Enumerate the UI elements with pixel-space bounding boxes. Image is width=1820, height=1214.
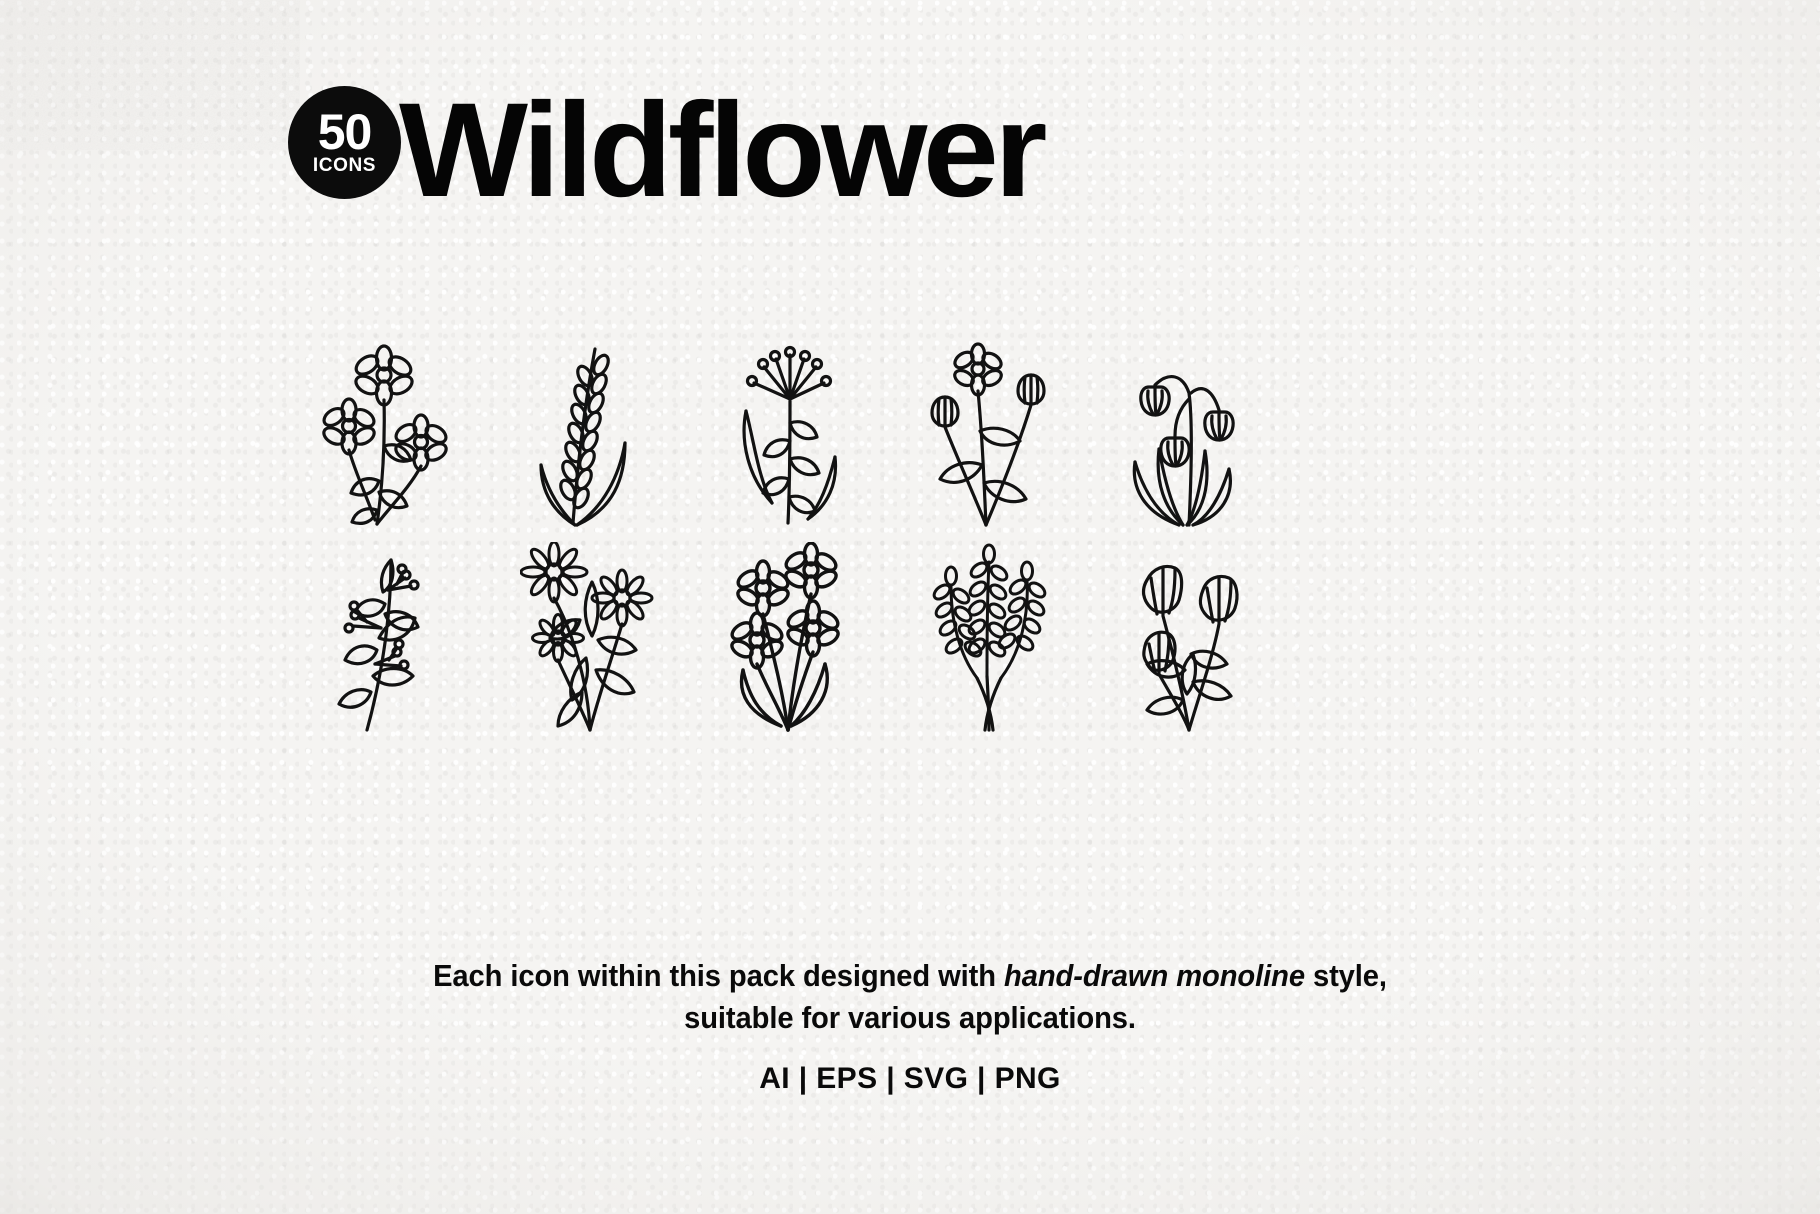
badge-count: 50 <box>318 111 372 154</box>
page-title: Wildflower <box>399 84 1043 218</box>
blade-leaf-left-b <box>541 465 575 525</box>
berry-sprig-left <box>345 602 381 632</box>
icon-tulip-bouquet <box>1090 527 1290 732</box>
tagline: Each icon within this pack designed with… <box>55 955 1766 1039</box>
leaf-r2 <box>790 458 819 475</box>
stalk-center <box>1175 399 1189 436</box>
leaf-r <box>980 428 1020 445</box>
stem-bud-left <box>945 427 986 525</box>
leaf-left-3 <box>339 690 371 708</box>
leaf-left-2 <box>1147 697 1183 714</box>
poster-footer: Each icon within this pack designed with… <box>0 955 1820 1096</box>
stem-2 <box>763 614 788 730</box>
blade-left <box>742 670 781 726</box>
icon-count-badge: 50 ICONS <box>288 86 401 199</box>
umbel-head <box>748 348 831 400</box>
leaf-center <box>1182 654 1195 694</box>
leaf-left-2 <box>345 646 377 664</box>
daisy-left <box>321 399 377 454</box>
stalk-right <box>1191 389 1219 410</box>
stem-bud-right <box>986 405 1031 525</box>
bunch-tie <box>977 676 1001 730</box>
sprig-leaves <box>558 353 611 510</box>
stem-b <box>590 624 622 730</box>
snowdrop-left <box>1141 387 1169 415</box>
icon-snowdrop <box>1090 322 1290 527</box>
daisy-top <box>353 346 415 405</box>
daisy-mid-left <box>729 613 785 668</box>
chamomile-right <box>592 570 652 626</box>
chamomile-upper-left <box>521 542 587 602</box>
icon-daisy-spray <box>690 527 890 732</box>
tagline-part2: style, <box>1305 958 1387 993</box>
leaf-r2 <box>984 481 1026 501</box>
blade-upper <box>585 582 598 636</box>
daisy-mid-right <box>785 601 841 656</box>
tagline-line2: suitable for various applications. <box>684 1000 1136 1035</box>
tulip-left-top <box>1144 567 1182 616</box>
snowdrop-center <box>1161 438 1189 466</box>
icon-lavender-bunch <box>890 527 1090 732</box>
poster-stage: 50 ICONS Wildflower <box>0 0 1820 1214</box>
leaf-r1 <box>790 422 817 439</box>
poster-header: 50 ICONS Wildflower <box>288 76 1030 218</box>
tagline-emphasis: hand-drawn monoline <box>1004 958 1305 993</box>
icon-chamomile-bunch <box>490 527 690 732</box>
icon-daisy-cluster <box>290 322 490 527</box>
branch-stem <box>367 560 391 730</box>
leaf-r3 <box>789 496 815 512</box>
bud-left <box>932 397 958 426</box>
daisy-head <box>952 344 1004 395</box>
file-formats: AI | EPS | SVG | PNG <box>0 1062 1820 1096</box>
badge-label: ICONS <box>313 156 376 175</box>
stem-main <box>377 400 384 524</box>
icon-allium-umbel <box>690 322 890 527</box>
icon-leafy-sprig <box>490 322 690 527</box>
daisy-top-right <box>783 543 839 598</box>
leaf-l1 <box>764 440 790 457</box>
tulip-right-top <box>1200 577 1237 624</box>
snowdrop-right <box>1205 412 1233 440</box>
daisy-top-left <box>735 561 791 616</box>
icon-grid <box>290 322 1290 732</box>
bud-right <box>1018 375 1044 404</box>
berry-sprig-lower-right <box>375 640 408 669</box>
icon-buttercup-sprig <box>890 322 1090 527</box>
tagline-part1: Each icon within this pack designed with <box>433 958 1004 993</box>
icon-berry-branch <box>290 527 490 732</box>
